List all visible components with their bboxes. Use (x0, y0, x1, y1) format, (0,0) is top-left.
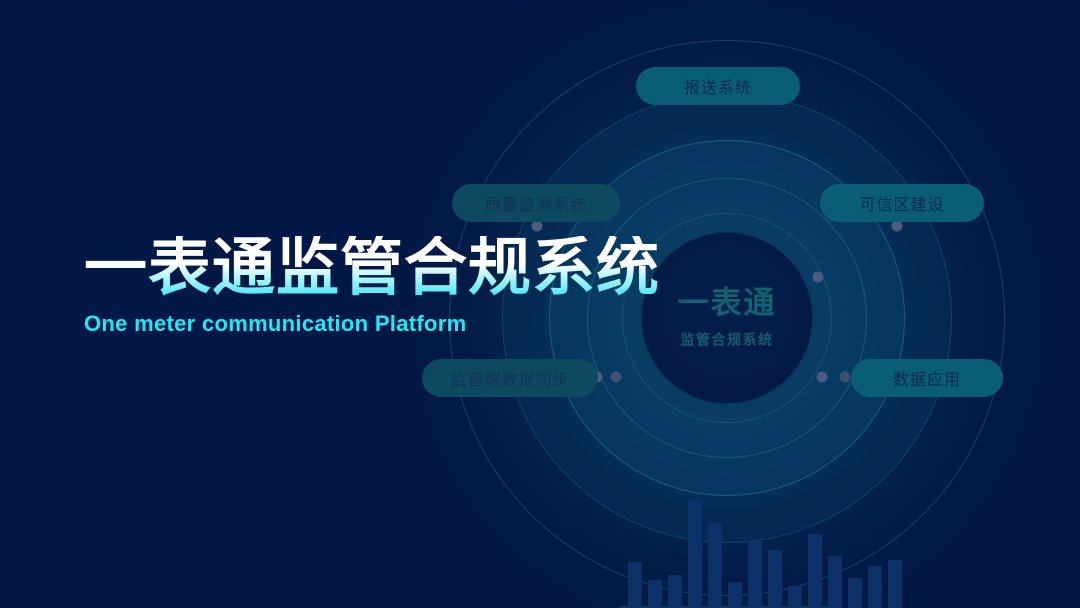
slide-canvas: 一表通 监管合规系统 报送系统质量监测系统可信区建设监管端数据同步数据应用 一表… (0, 0, 1080, 608)
decor-bar (828, 556, 842, 608)
dot-upper-left (532, 221, 543, 232)
node-data-sync[interactable]: 监管端数据同步 (422, 359, 598, 397)
node-data-app[interactable]: 数据应用 (851, 359, 1003, 397)
decor-bar (688, 500, 702, 608)
decor-bar (748, 541, 762, 608)
decor-bar (728, 582, 742, 608)
center-disc (641, 232, 813, 404)
hero-text-block: 一表通监管合规系统 One meter communication Platfo… (84, 236, 660, 337)
decorative-bar-chart (628, 490, 902, 608)
decor-bar (628, 562, 642, 608)
dot-mid-right (813, 272, 824, 283)
decor-bar (868, 566, 882, 608)
decor-bar (708, 523, 722, 608)
page-title: 一表通监管合规系统 (84, 236, 660, 300)
decor-bar (808, 534, 822, 608)
page-subtitle: One meter communication Platform (84, 311, 660, 337)
node-trusted-zone[interactable]: 可信区建设 (820, 184, 984, 222)
decor-bar (788, 586, 802, 608)
dot-lower-right-a (817, 372, 828, 383)
decor-bar (888, 560, 902, 608)
node-quality[interactable]: 质量监测系统 (452, 184, 620, 222)
dot-lower-right-b (840, 372, 851, 383)
decor-bar (848, 578, 862, 608)
decor-bar (768, 550, 782, 608)
decor-bar (648, 580, 662, 608)
node-report[interactable]: 报送系统 (636, 67, 800, 105)
dot-upper-right (892, 221, 903, 232)
decor-bar (668, 575, 682, 608)
dot-lower-left-b (611, 372, 622, 383)
